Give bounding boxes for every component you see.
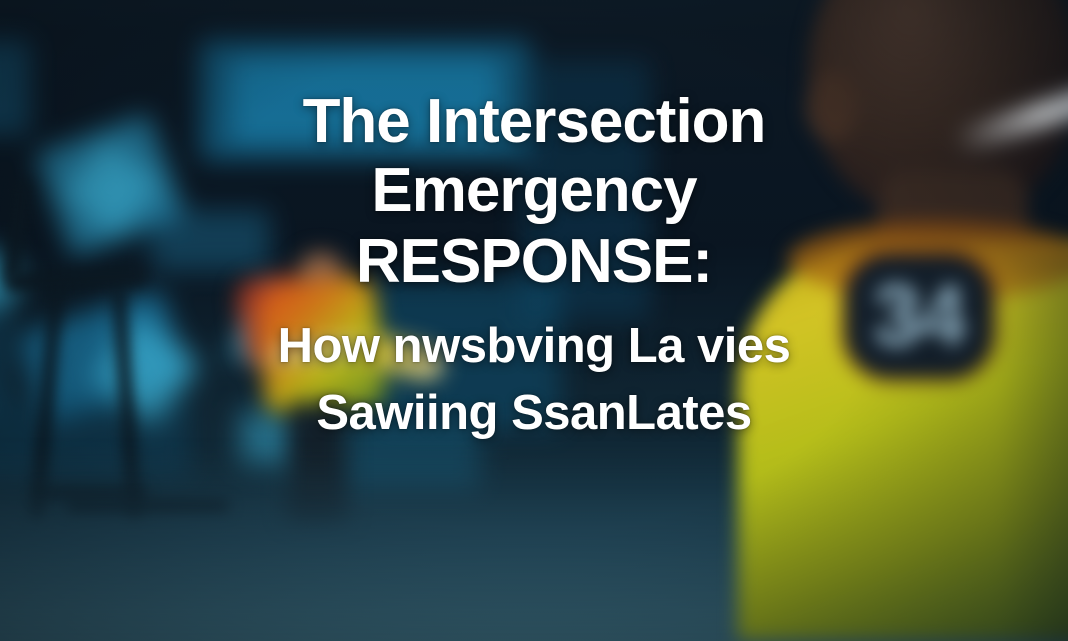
responder-ear bbox=[806, 70, 858, 142]
monitor-panel bbox=[230, 58, 500, 143]
monitor-panel bbox=[0, 40, 30, 135]
jacket-shadow bbox=[998, 250, 1068, 641]
foreground-responder: 34 bbox=[748, 0, 1068, 620]
title-card: 34 The Intersection Emergency RESPONSE: … bbox=[0, 0, 1068, 641]
background-photo: 34 bbox=[0, 0, 1068, 641]
monitor-panel bbox=[150, 210, 270, 270]
responder-badge-number: 34 bbox=[846, 255, 992, 377]
